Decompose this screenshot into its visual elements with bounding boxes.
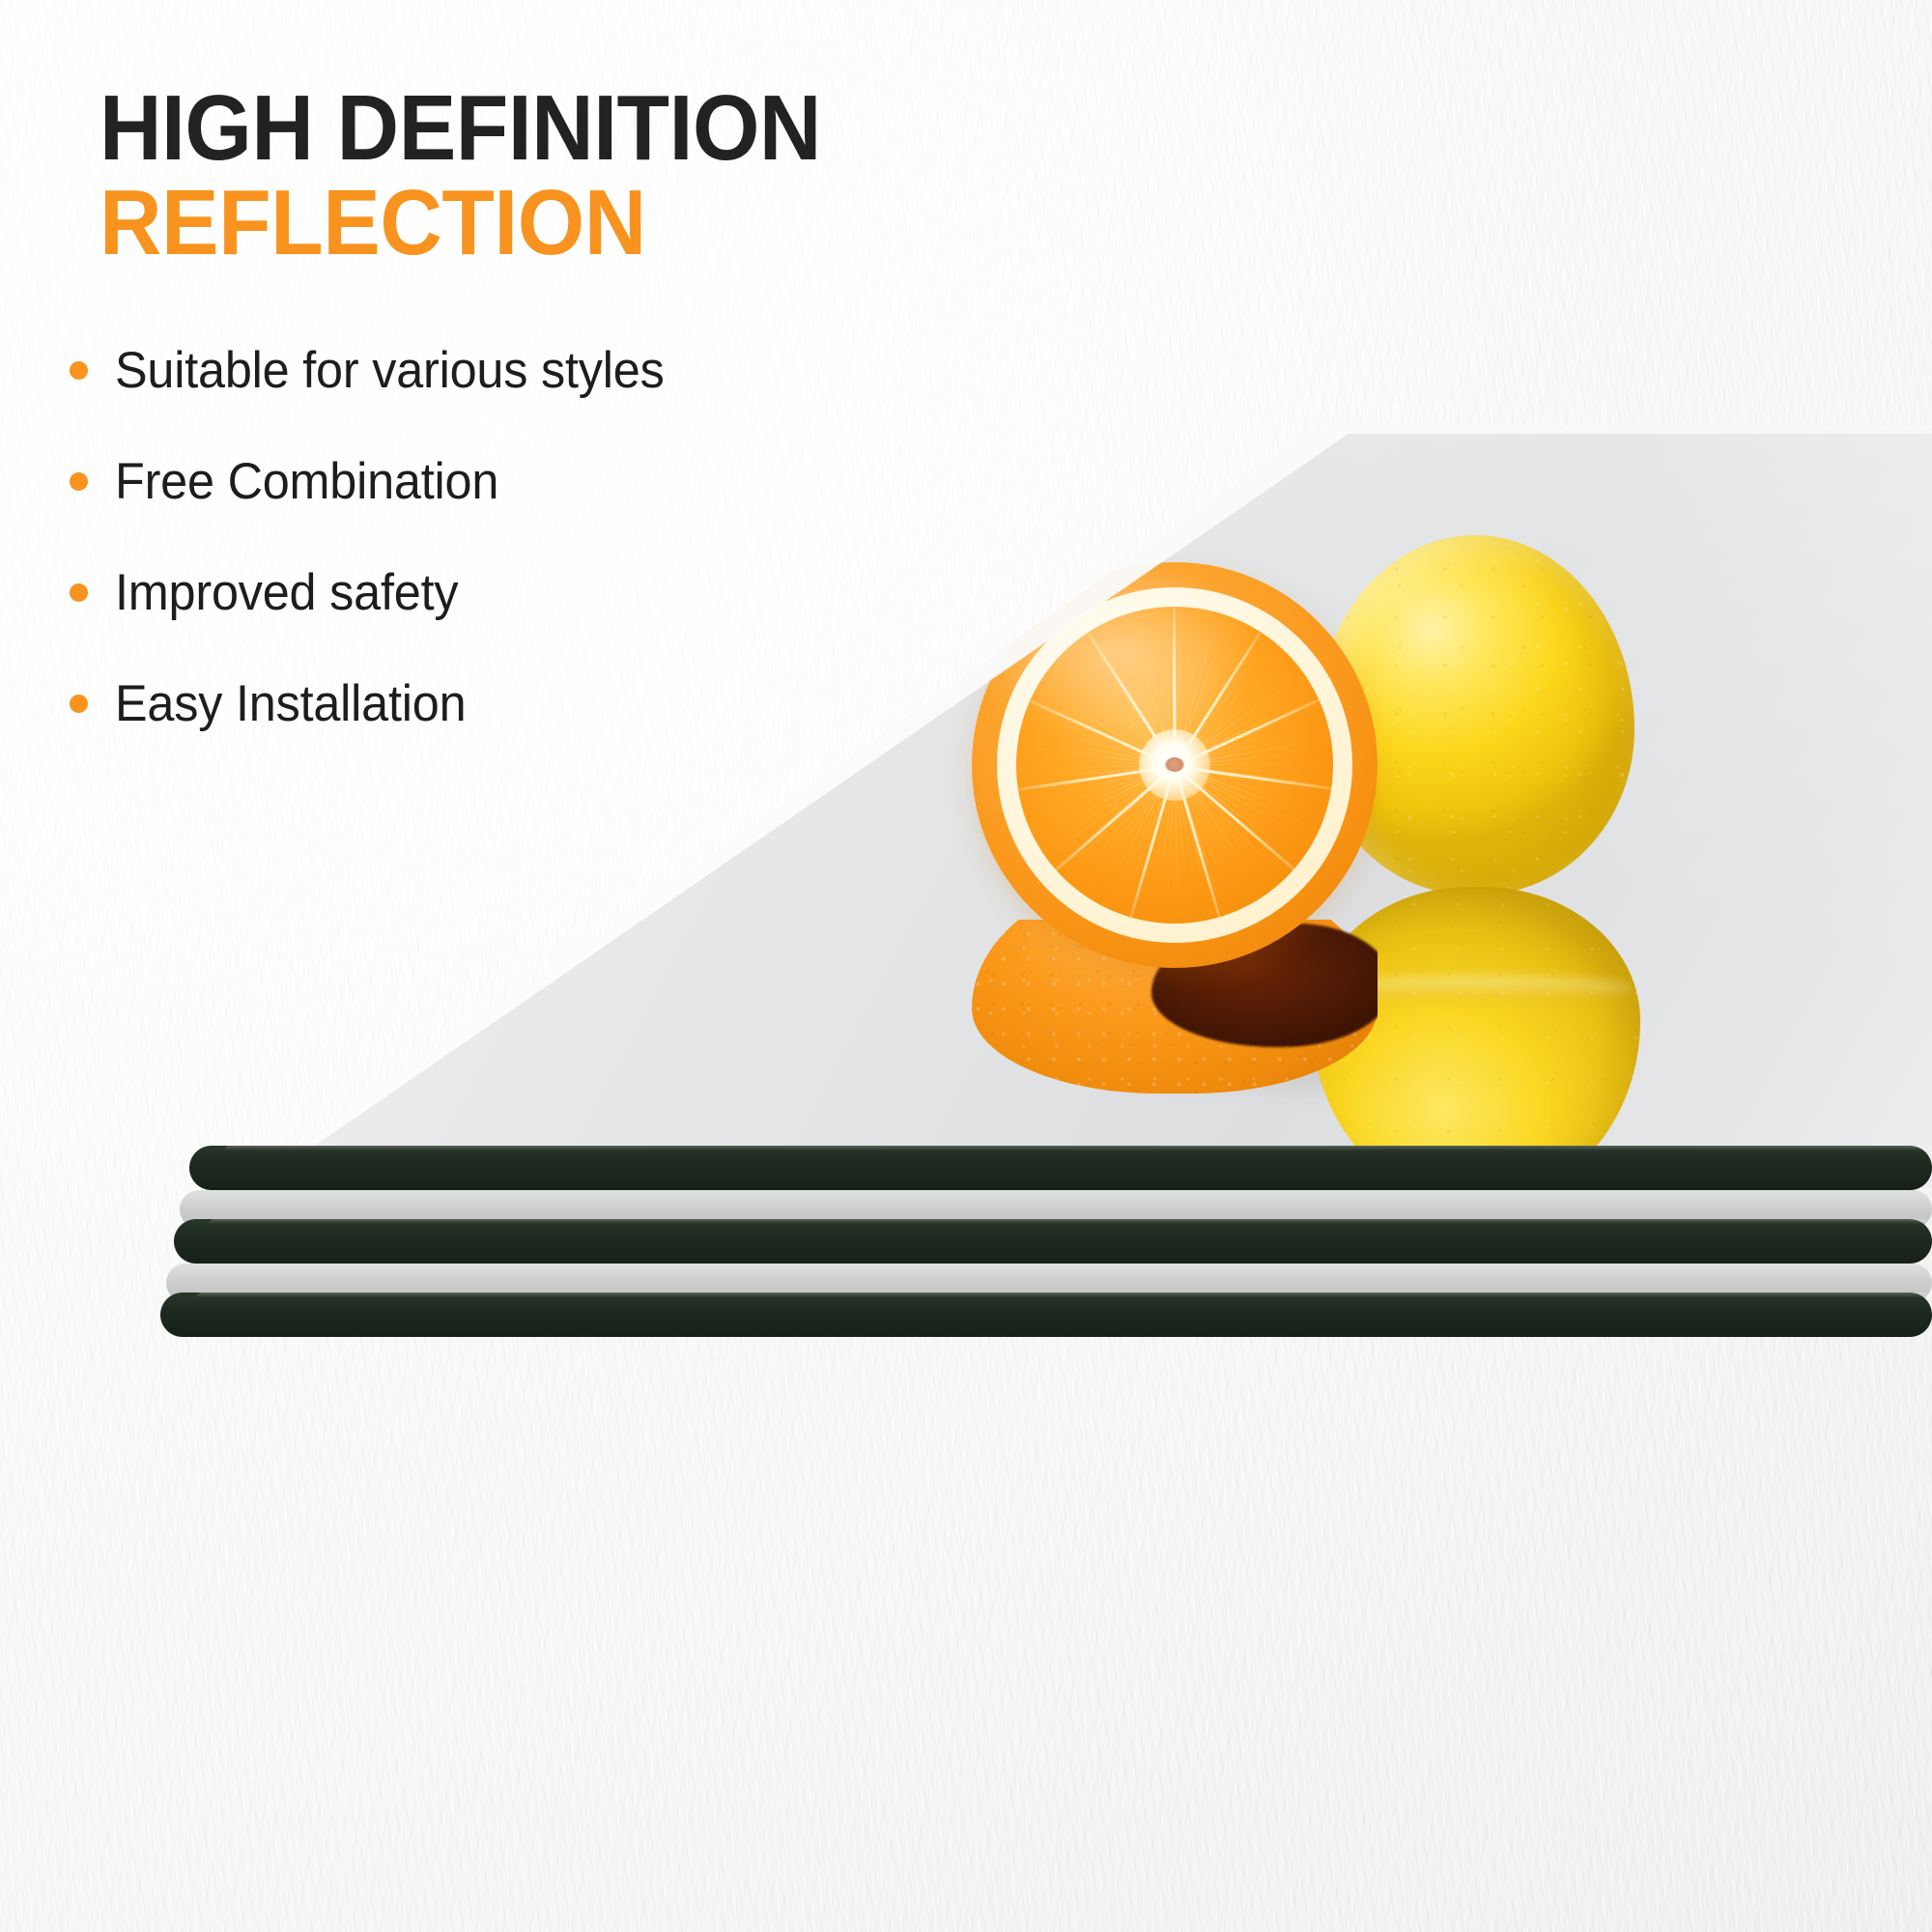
product-feature-banner: HIGH DEFINITION REFLECTION Suitable for … xyxy=(0,0,1932,1932)
list-item: Easy Installation xyxy=(68,648,937,759)
list-item: Free Combination xyxy=(68,426,937,537)
list-item: Suitable for various styles xyxy=(68,315,937,426)
paper-vignette xyxy=(0,0,1932,1932)
headline-line-2: REFLECTION xyxy=(99,180,1088,267)
bullet-dot-icon xyxy=(70,583,88,602)
bullet-dot-icon xyxy=(70,695,88,713)
feature-label: Easy Installation xyxy=(115,674,466,733)
bullet-dot-icon xyxy=(70,472,88,491)
headline-block: HIGH DEFINITION REFLECTION xyxy=(99,85,1162,267)
list-item: Improved safety xyxy=(68,537,937,648)
bullet-dot-icon xyxy=(70,361,88,380)
feature-label: Suitable for various styles xyxy=(115,341,665,400)
feature-list: Suitable for various styles Free Combina… xyxy=(68,315,937,759)
feature-label: Improved safety xyxy=(115,563,458,622)
headline-line-1: HIGH DEFINITION xyxy=(99,85,1088,172)
feature-label: Free Combination xyxy=(115,452,498,511)
